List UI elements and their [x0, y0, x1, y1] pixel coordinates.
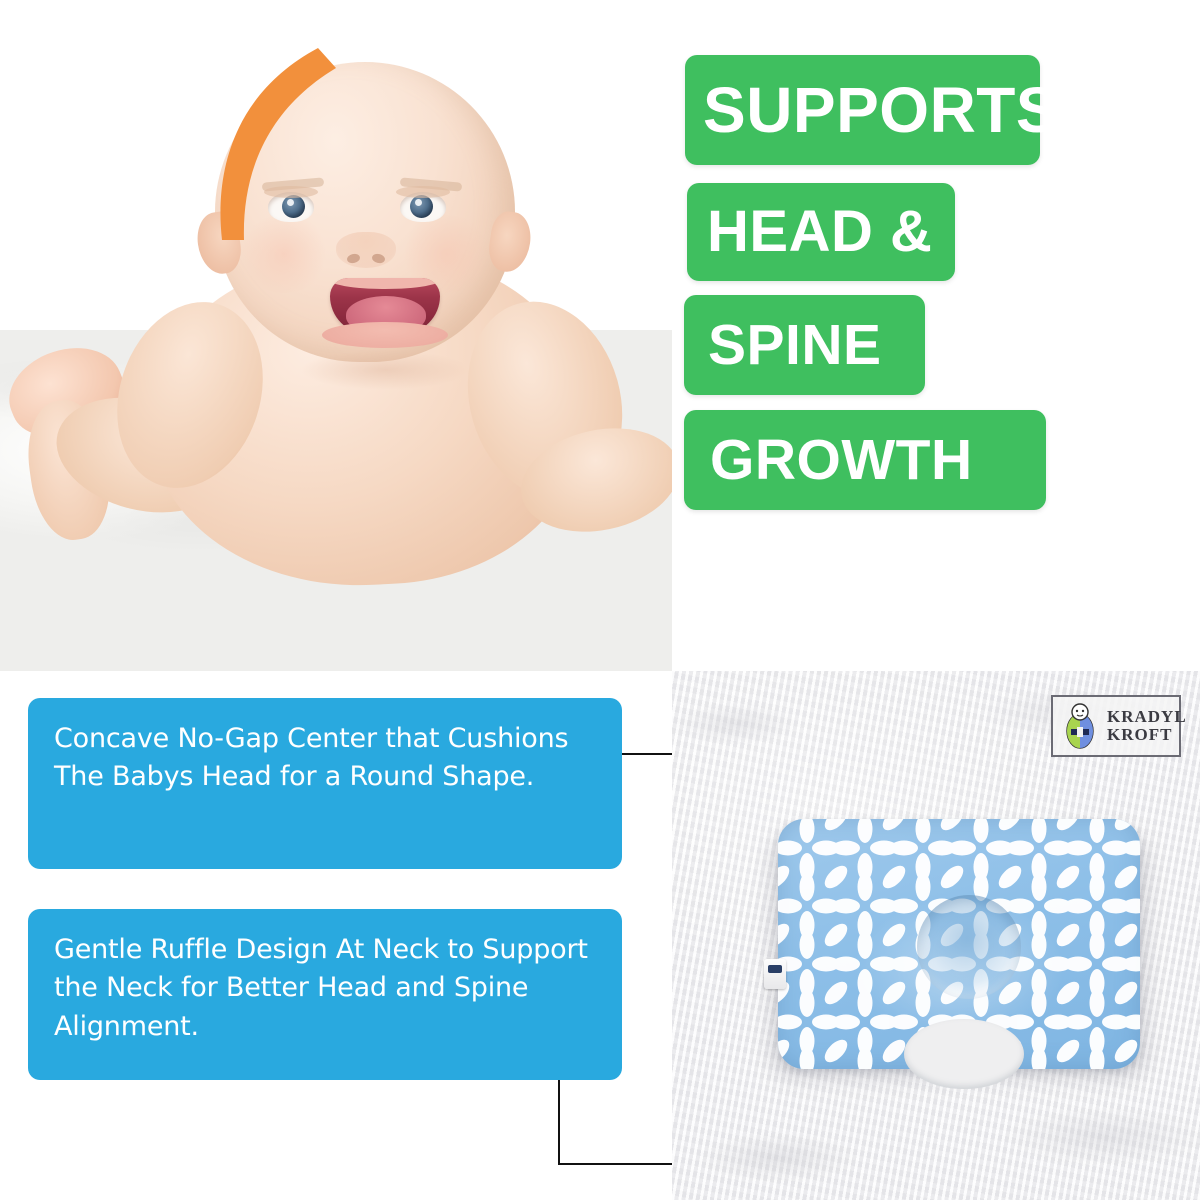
baby-pillow [778, 819, 1140, 1069]
lower-lip [322, 322, 448, 348]
iris-right [410, 195, 433, 218]
product-photo: KRADYL KROFT [672, 671, 1200, 1200]
brand-line-1: KRADYL [1107, 708, 1187, 726]
headline-banner-group: SUPPORTS HEAD & SPINE GROWTH [672, 0, 1200, 671]
brand-line-2: KROFT [1107, 726, 1187, 744]
feature-callout-concave-center-text: Concave No-Gap Center that Cushions The … [54, 720, 596, 797]
banner-supports: SUPPORTS [685, 55, 1040, 165]
banner-head: HEAD & [687, 183, 955, 281]
kradyl-kroft-baby-icon [1060, 701, 1100, 751]
banner-growth-label: GROWTH [710, 432, 973, 489]
concave-center-dip [917, 895, 1021, 999]
feature-callout-ruffle-neck-text: Gentle Ruffle Design At Neck to Support … [54, 931, 596, 1046]
banner-head-label: HEAD & [707, 203, 932, 261]
banner-spine-label: SPINE [708, 317, 882, 374]
fabric-tag [764, 959, 786, 989]
feature-callout-ruffle-neck: Gentle Ruffle Design At Neck to Support … [28, 909, 622, 1080]
baby-eyelid-right [396, 186, 450, 198]
banner-supports-label: SUPPORTS [703, 78, 1059, 142]
neck-ruffle-notch [904, 1009, 1024, 1081]
product-infographic: SUPPORTS HEAD & SPINE GROWTH Concave No-… [0, 0, 1200, 1200]
banner-growth: GROWTH [684, 410, 1046, 510]
banner-spine: SPINE [684, 295, 925, 395]
brand-logo: KRADYL KROFT [1051, 695, 1181, 757]
round-head-arc-icon [196, 28, 356, 238]
upper-lip [330, 278, 440, 289]
brand-logo-text: KRADYL KROFT [1107, 708, 1187, 744]
feature-callout-concave-center: Concave No-Gap Center that Cushions The … [28, 698, 622, 869]
leader-line-2-vertical-left [558, 1080, 560, 1165]
baby-photo [0, 0, 672, 671]
chin-shadow [300, 350, 470, 390]
